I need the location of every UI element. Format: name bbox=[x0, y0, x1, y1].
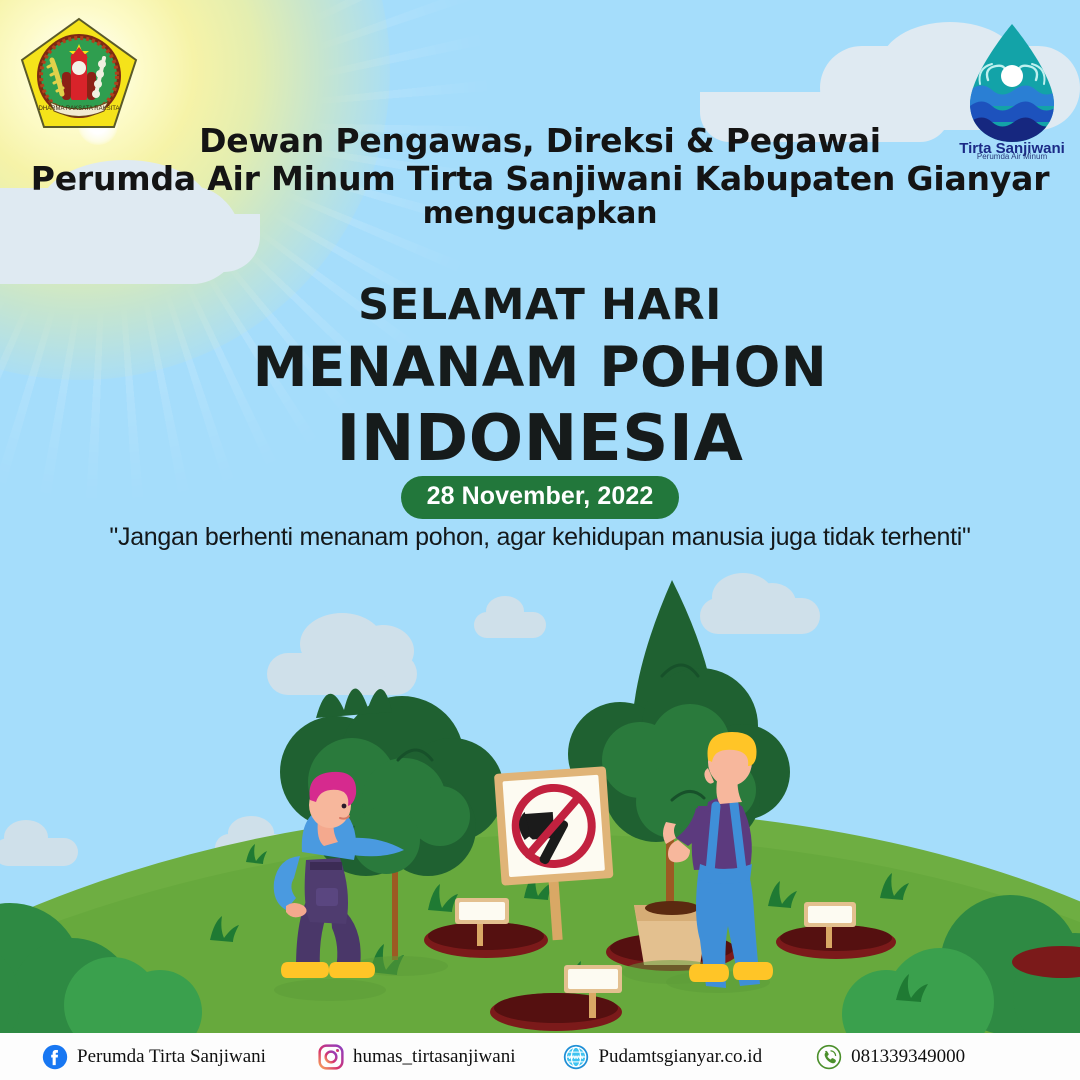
svg-text:DHARMA RAKSATA RAKSITA: DHARMA RAKSATA RAKSITA bbox=[38, 106, 119, 112]
status-badge: 28 November, 2022 bbox=[401, 476, 680, 519]
gianyar-emblem-logo: DHARMA RAKSATA RAKSITA bbox=[16, 14, 142, 134]
facebook-icon[interactable] bbox=[42, 1044, 68, 1070]
header-block: Dewan Pengawas, Direksi & Pegawai Perumd… bbox=[0, 122, 1080, 231]
header-line-1: Dewan Pengawas, Direksi & Pegawai bbox=[0, 122, 1080, 160]
headline-line-1: SELAMAT HARI bbox=[0, 280, 1080, 331]
footer-label-facebook: Perumda Tirta Sanjiwani bbox=[77, 1046, 266, 1068]
headline-block: SELAMAT HARI MENANAM POHON INDONESIA bbox=[0, 280, 1080, 477]
footer-item-facebook[interactable]: Perumda Tirta Sanjiwani bbox=[42, 1044, 266, 1070]
footer-item-instagram[interactable]: humas_tirtasanjiwani bbox=[318, 1044, 516, 1070]
logo-subtitle: Perumda Air Minum bbox=[958, 152, 1066, 161]
instagram-icon[interactable] bbox=[318, 1044, 344, 1070]
poster-canvas: DHARMA RAKSATA RAKSITA Tirta Sanjiwani P… bbox=[0, 0, 1080, 1080]
quote-text: "Jangan berhenti menanam pohon, agar keh… bbox=[0, 523, 1080, 552]
planting-hole bbox=[494, 993, 618, 1023]
planting-hole bbox=[428, 922, 544, 950]
headline-line-3: INDONESIA bbox=[0, 402, 1080, 478]
header-line-2: Perumda Air Minum Tirta Sanjiwani Kabupa… bbox=[0, 160, 1080, 198]
social-footer-bar: Perumda Tirta Sanjiwani humas_tirtasanji… bbox=[0, 1033, 1080, 1080]
date-badge-wrap: 28 November, 2022 bbox=[0, 476, 1080, 519]
header-line-3: mengucapkan bbox=[0, 197, 1080, 231]
quote-wrap: "Jangan berhenti menanam pohon, agar keh… bbox=[0, 523, 1080, 552]
footer-item-phone[interactable]: 081339349000 bbox=[816, 1044, 965, 1070]
tirta-sanjiwani-logo: Tirta Sanjiwani bbox=[958, 18, 1066, 158]
phone-icon[interactable] bbox=[816, 1044, 842, 1070]
website-icon[interactable]: www bbox=[563, 1044, 589, 1070]
footer-label-instagram: humas_tirtasanjiwani bbox=[353, 1046, 516, 1068]
footer-item-website[interactable]: www Pudamtsgianyar.co.id bbox=[563, 1044, 762, 1070]
footer-label-phone: 081339349000 bbox=[851, 1046, 965, 1068]
planting-hole bbox=[780, 925, 892, 951]
headline-line-2: MENANAM POHON bbox=[0, 335, 1080, 400]
footer-label-website: Pudamtsgianyar.co.id bbox=[598, 1046, 762, 1068]
svg-text:www: www bbox=[568, 1054, 585, 1061]
